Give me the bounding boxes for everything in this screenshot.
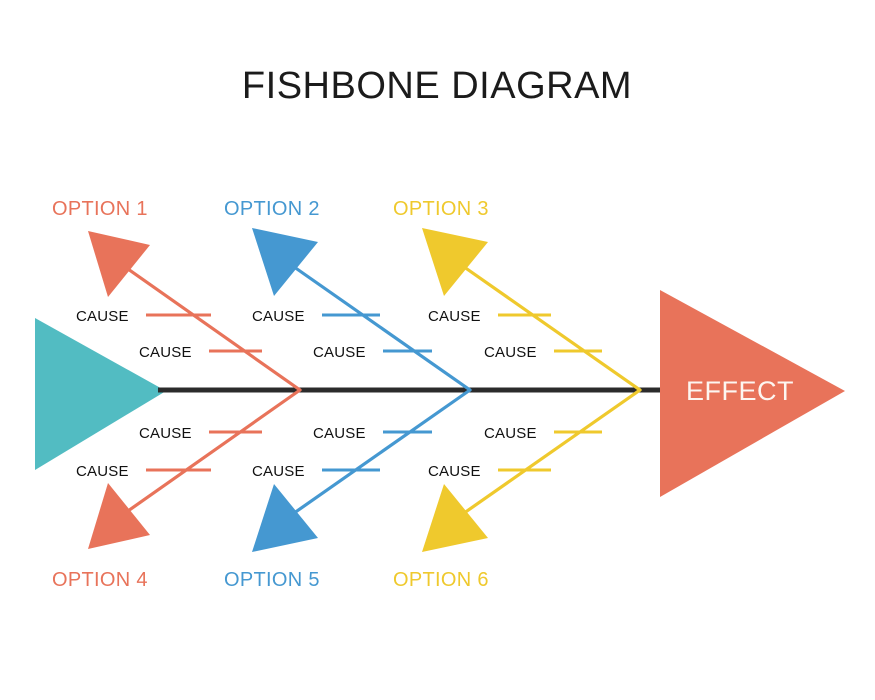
cause-label-option-3-1: CAUSE [428,308,481,325]
branch-option-6: CAUSECAUSEOPTION 6 [393,390,640,591]
cause-label-option-4-2: CAUSE [76,463,129,480]
arrowhead-option-2[interactable] [252,228,318,296]
cause-label-option-6-1: CAUSE [484,425,537,442]
cause-label-option-1-2: CAUSE [139,344,192,361]
option-label-option-5[interactable]: OPTION 5 [224,569,320,591]
cause-label-option-2-2: CAUSE [313,344,366,361]
option-label-option-6[interactable]: OPTION 6 [393,569,489,591]
fish-tail-triangle [35,318,166,470]
bone-line-option-6 [457,390,640,518]
effect-label: EFFECT [686,376,794,406]
arrowhead-option-1[interactable] [88,231,150,297]
branch-option-5: CAUSECAUSEOPTION 5 [224,390,470,591]
option-label-option-1[interactable]: OPTION 1 [52,198,148,220]
arrowhead-option-5[interactable] [252,484,318,552]
cause-label-option-3-2: CAUSE [484,344,537,361]
option-label-option-4[interactable]: OPTION 4 [52,569,148,591]
arrowhead-option-3[interactable] [422,228,488,296]
arrowhead-option-4[interactable] [88,483,150,549]
cause-label-option-6-2: CAUSE [428,463,481,480]
cause-label-option-5-1: CAUSE [313,425,366,442]
cause-label-option-5-2: CAUSE [252,463,305,480]
fishbone-diagram-canvas: FISHBONE DIAGRAM CAUSECAUSEOPTION 1CAUSE… [0,0,875,700]
option-label-option-3[interactable]: OPTION 3 [393,198,489,220]
cause-label-option-2-1: CAUSE [252,308,305,325]
option-label-option-2[interactable]: OPTION 2 [224,198,320,220]
fishbone-diagram-svg: FISHBONE DIAGRAM CAUSECAUSEOPTION 1CAUSE… [0,0,875,700]
bone-line-option-3 [457,262,640,390]
cause-label-option-1-1: CAUSE [76,308,129,325]
arrowhead-option-6[interactable] [422,484,488,552]
cause-label-option-4-1: CAUSE [139,425,192,442]
page-title: FISHBONE DIAGRAM [242,65,632,107]
